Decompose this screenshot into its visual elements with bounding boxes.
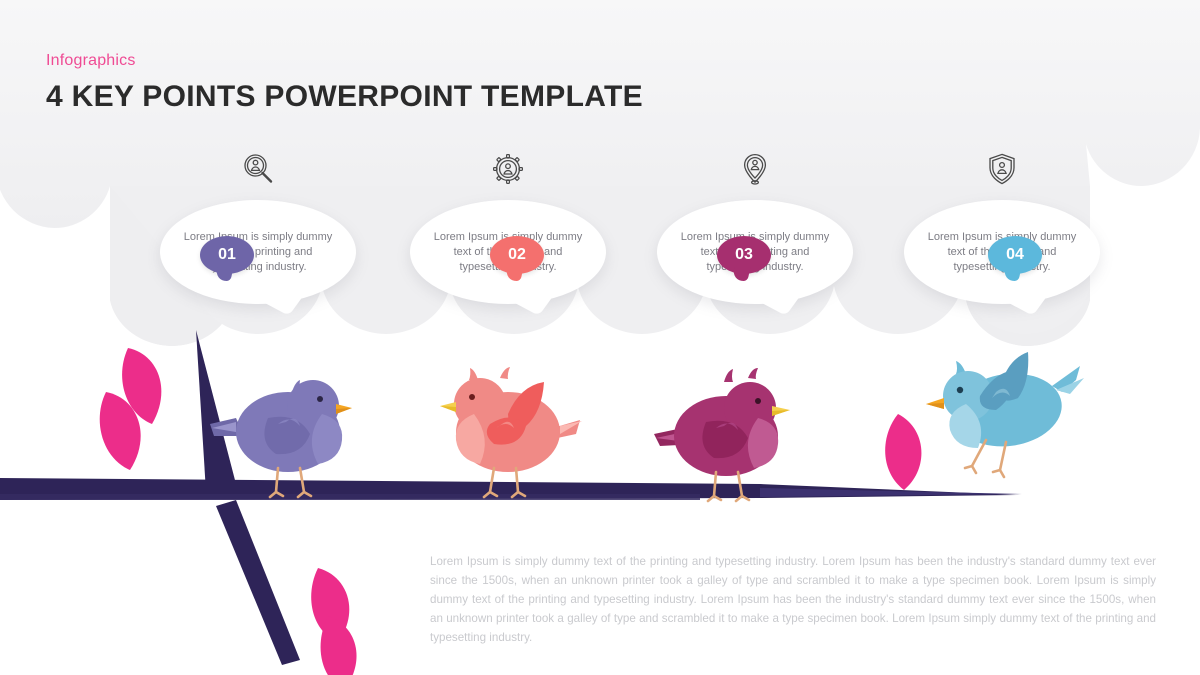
step-badge-number-01: 01 bbox=[218, 246, 236, 264]
bird-purple bbox=[210, 380, 352, 497]
step-item-04[interactable]: Lorem Ipsum is simply dummy text of the … bbox=[902, 148, 1102, 304]
step-item-02[interactable]: Lorem Ipsum is simply dummy text of the … bbox=[408, 148, 608, 304]
bubble-01: Lorem Ipsum is simply dummy text of the … bbox=[160, 200, 356, 304]
footer-paragraph: Lorem Ipsum is simply dummy text of the … bbox=[430, 552, 1156, 647]
header-block: Infographics 4 KEY POINTS POWERPOINT TEM… bbox=[46, 52, 643, 114]
slide-canvas: Infographics 4 KEY POINTS POWERPOINT TEM… bbox=[0, 0, 1200, 675]
leaf bbox=[321, 616, 357, 675]
step-badge-number-03: 03 bbox=[735, 246, 753, 264]
step-badge-01[interactable]: 01 bbox=[200, 236, 254, 274]
bubble-tail-03 bbox=[763, 282, 801, 315]
bird-magenta bbox=[654, 368, 790, 501]
user-shield-icon bbox=[902, 148, 1102, 190]
bubble-tail-02 bbox=[516, 282, 554, 315]
page-title: 4 KEY POINTS POWERPOINT TEMPLATE bbox=[46, 80, 643, 114]
user-location-pin-icon bbox=[655, 148, 855, 190]
step-item-03[interactable]: Lorem Ipsum is simply dummy text of the … bbox=[655, 148, 855, 304]
eyebrow-label: Infographics bbox=[46, 52, 643, 70]
bubble-tail-04 bbox=[1010, 282, 1048, 315]
step-badge-04[interactable]: 04 bbox=[988, 236, 1042, 274]
step-badge-number-02: 02 bbox=[508, 246, 526, 264]
user-gear-icon bbox=[408, 148, 608, 190]
leaf bbox=[885, 414, 921, 490]
leaf bbox=[311, 568, 349, 642]
step-badge-number-04: 04 bbox=[1006, 246, 1024, 264]
bubble-tail-01 bbox=[266, 282, 304, 315]
bird-blue bbox=[926, 352, 1084, 477]
step-badge-02[interactable]: 02 bbox=[490, 236, 544, 274]
step-item-01[interactable]: Lorem Ipsum is simply dummy text of the … bbox=[158, 148, 358, 304]
bird-salmon bbox=[440, 367, 582, 497]
step-badge-03[interactable]: 03 bbox=[717, 236, 771, 274]
leaf bbox=[100, 392, 141, 470]
user-magnifier-icon bbox=[158, 148, 358, 190]
